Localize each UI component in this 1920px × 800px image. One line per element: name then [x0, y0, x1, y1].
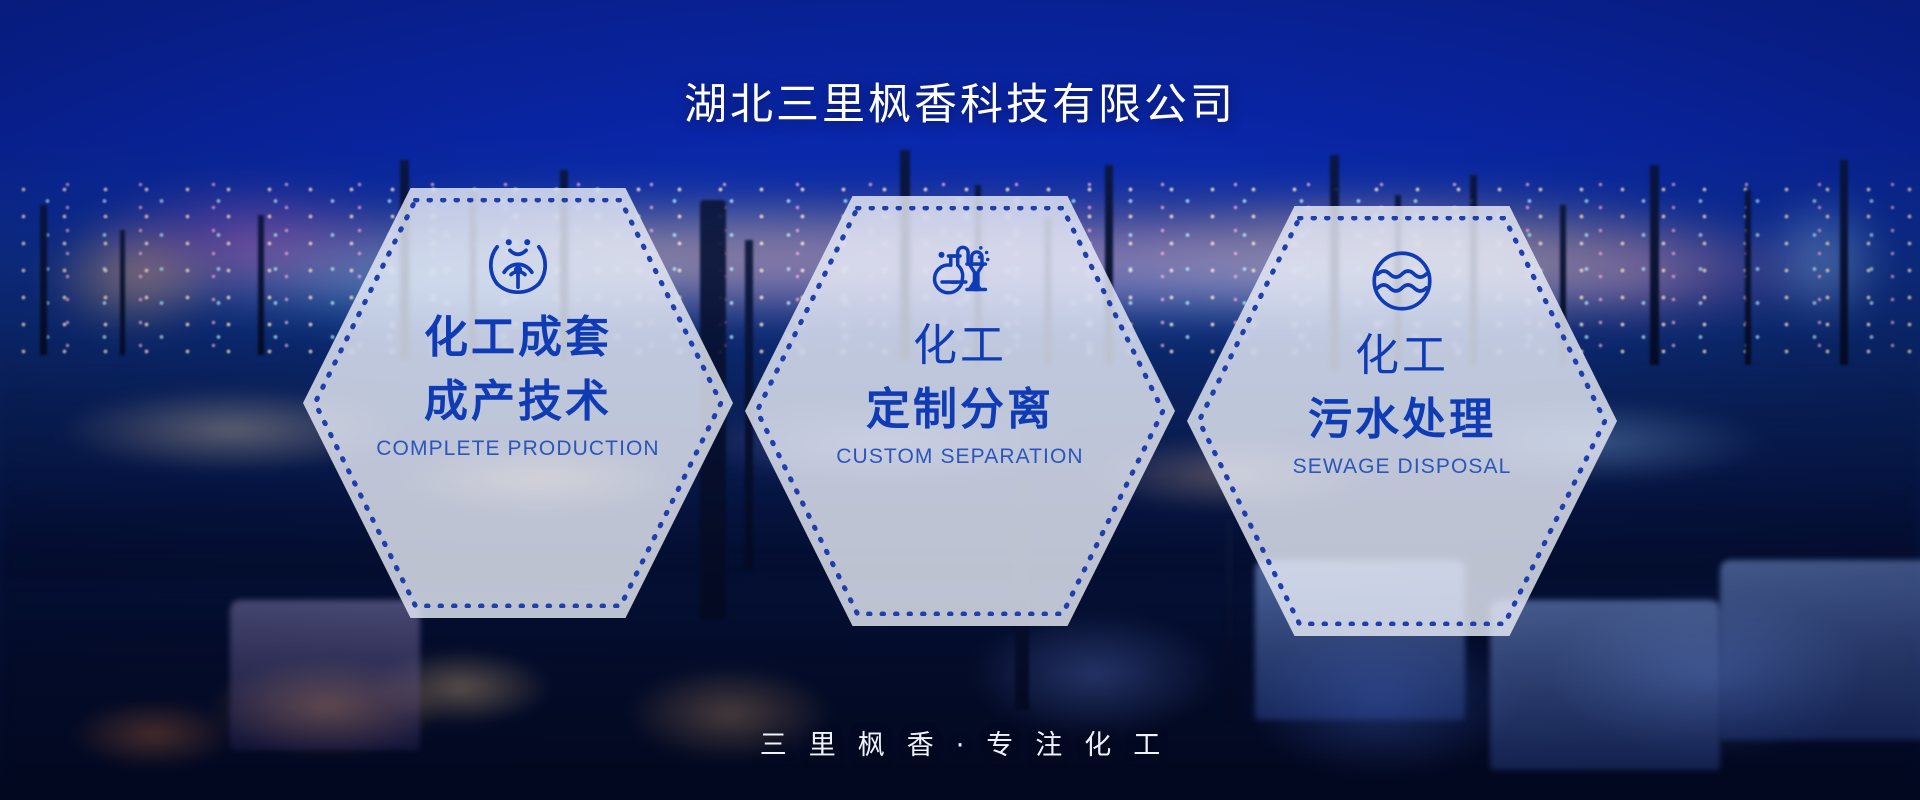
- water-waves-icon: [1365, 244, 1439, 318]
- card-title-line1: 化工: [913, 320, 1007, 372]
- banner-stage: 湖北三里枫香科技有限公司: [0, 0, 1920, 800]
- lab-flasks-icon: [923, 234, 997, 308]
- card-subtitle-english: CUSTOM SEPARATION: [836, 445, 1083, 469]
- card-title-line2: 定制分离: [866, 384, 1054, 436]
- card-title-line1: 化工成套: [424, 312, 612, 364]
- company-title: 湖北三里枫香科技有限公司: [0, 70, 1920, 132]
- service-card-complete-production[interactable]: 化工成套 成产技术 COMPLETE PRODUCTION: [303, 188, 733, 618]
- service-card-custom-separation[interactable]: 化工 定制分离 CUSTOM SEPARATION: [745, 196, 1175, 626]
- card-title-line2: 成产技术: [424, 376, 612, 428]
- broadcast-signal-icon: [481, 226, 555, 300]
- card-title-line1: 化工: [1355, 330, 1449, 382]
- card-subtitle-english: SEWAGE DISPOSAL: [1293, 455, 1512, 479]
- service-card-row: 化工成套 成产技术 COMPLETE PRODUCTION: [0, 188, 1920, 618]
- card-title-line2: 污水处理: [1308, 394, 1496, 446]
- card-subtitle-english: COMPLETE PRODUCTION: [376, 437, 659, 461]
- service-card-sewage-disposal[interactable]: 化工 污水处理 SEWAGE DISPOSAL: [1187, 206, 1617, 636]
- bottom-tagline: 三里枫香·专注化工: [0, 723, 1920, 762]
